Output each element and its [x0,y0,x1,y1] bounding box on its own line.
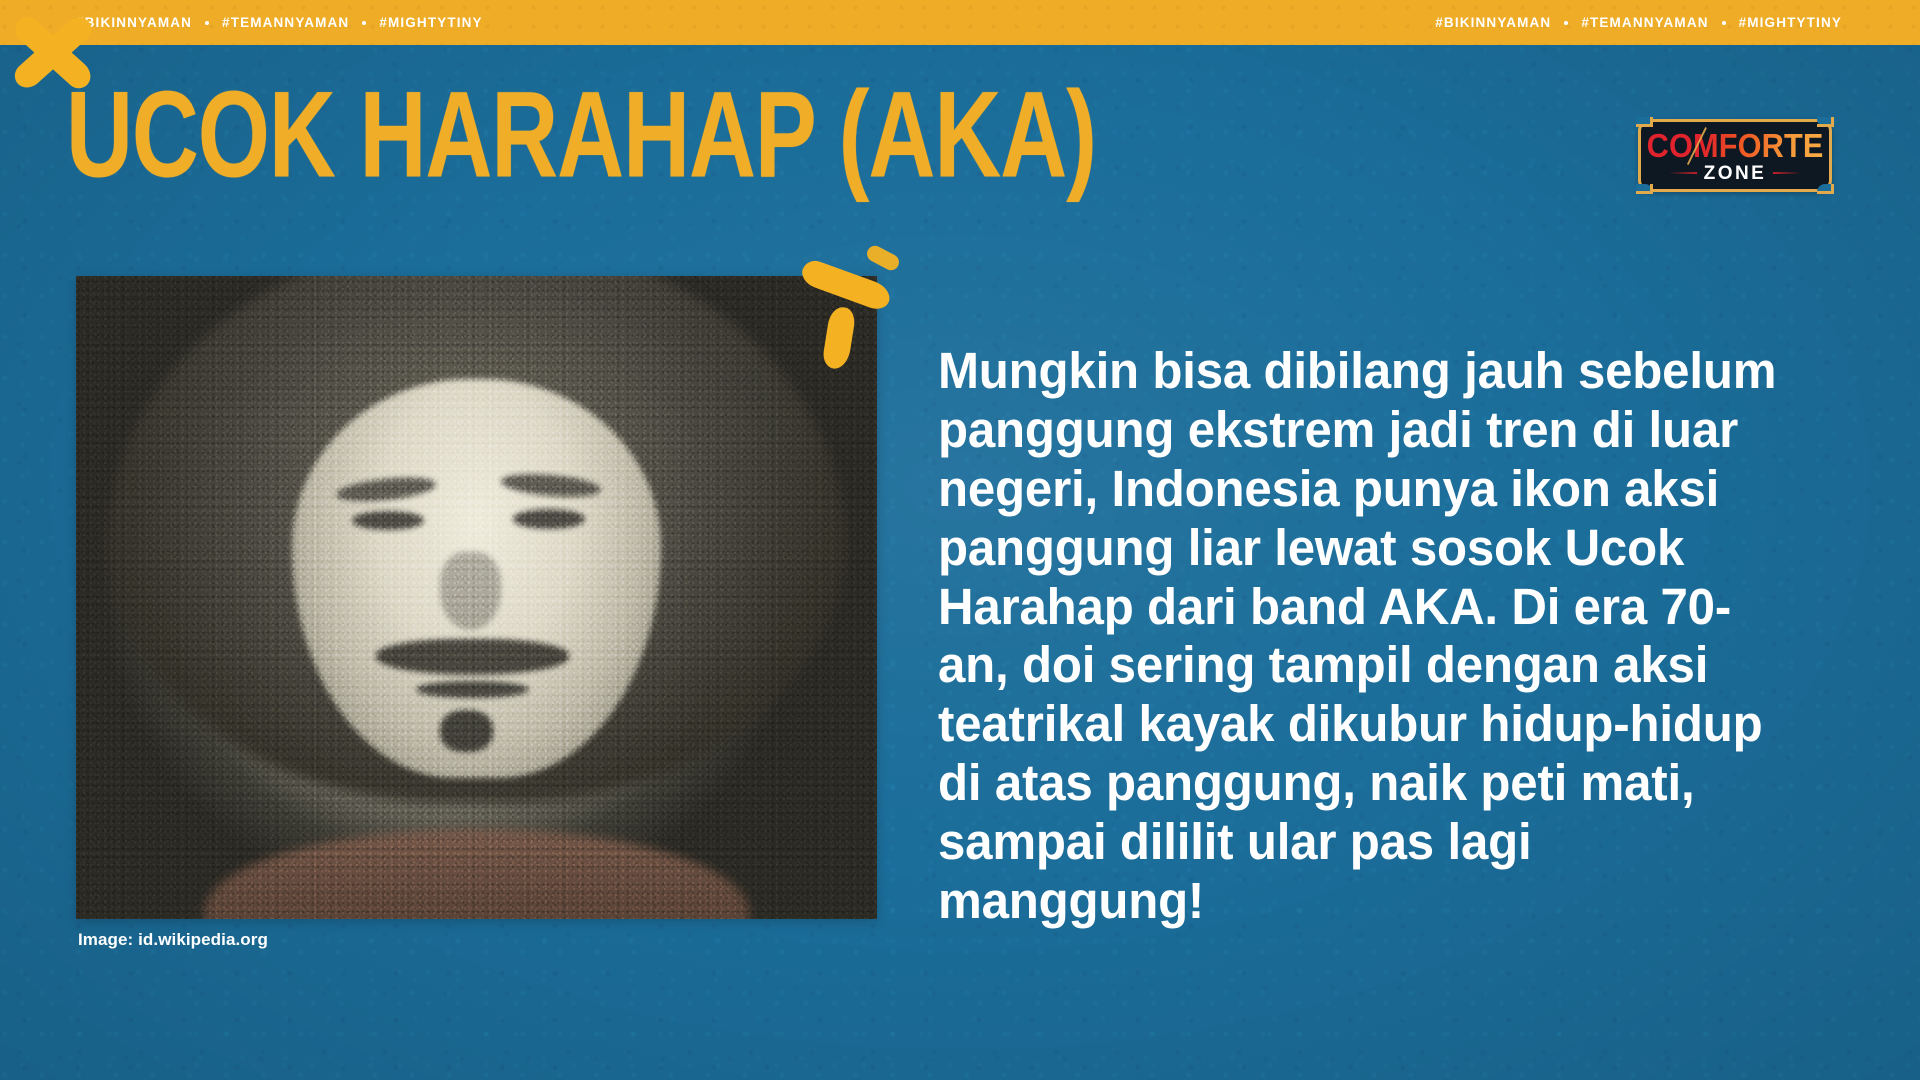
logo-rule-right [1773,172,1801,174]
portrait-photo [76,276,877,919]
hashtag-bikinnyaman-right: #BIKINNYAMAN [1435,16,1551,30]
hashtag-mightytiny-left: #MIGHTYTINY [379,16,482,30]
logo-content: COMFORTE ZONE [1638,119,1832,192]
bullet-separator-icon [1564,21,1568,25]
bullet-separator-icon [205,21,209,25]
logo-slash-icon [1687,127,1707,165]
logo-notch-top-left [1636,117,1653,127]
hashtag-temannyaman-right: #TEMANNYAMAN [1581,16,1708,30]
logo-notch-bottom-right [1817,184,1834,194]
page-title: UCOK HARAHAP (AKA) [66,78,1096,191]
hashtag-bikinnyaman-left: #BIKINNYAMAN [76,16,192,30]
hashtag-topbar: #BIKINNYAMAN #TEMANNYAMAN #MIGHTYTINY #B… [0,0,1920,45]
logo-notch-bottom-left [1636,184,1653,194]
logo-zone-row: ZONE [1638,164,1832,183]
brand-logo[interactable]: COMFORTE ZONE [1638,119,1832,192]
photo-grain-overlay [76,276,877,919]
slide-canvas: #BIKINNYAMAN #TEMANNYAMAN #MIGHTYTINY #B… [0,0,1920,1080]
logo-rule-left [1669,172,1697,174]
logo-subwordmark: ZONE [1704,164,1767,183]
hashtag-group-left: #BIKINNYAMAN #TEMANNYAMAN #MIGHTYTINY [76,0,483,45]
hashtag-group-right: #BIKINNYAMAN #TEMANNYAMAN #MIGHTYTINY [1435,0,1842,45]
bullet-separator-icon [362,21,366,25]
logo-notch-top-right [1817,117,1834,127]
logo-wordmark: COMFORTE [1647,129,1824,162]
body-paragraph: Mungkin bisa dibilang jauh sebelum pangg… [938,342,1787,931]
image-credit-caption: Image: id.wikipedia.org [78,930,268,950]
hashtag-temannyaman-left: #TEMANNYAMAN [222,16,349,30]
hashtag-mightytiny-right: #MIGHTYTINY [1739,16,1842,30]
bullet-separator-icon [1722,21,1726,25]
brush-dash-small-icon [864,243,902,273]
